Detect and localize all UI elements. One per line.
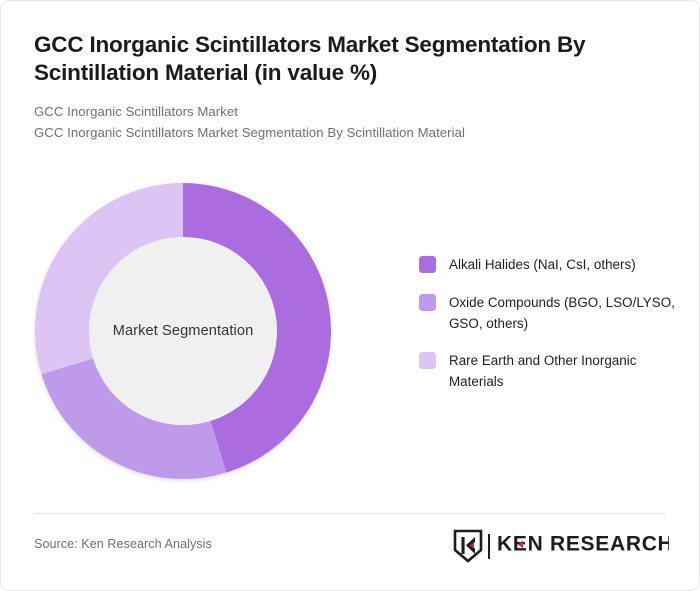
donut-hole xyxy=(89,237,277,425)
legend-label: Rare Earth and Other Inorganic Materials xyxy=(449,351,681,393)
header: GCC Inorganic Scintillators Market Segme… xyxy=(34,31,669,143)
subtitle-group: GCC Inorganic Scintillators Market GCC I… xyxy=(34,102,669,144)
brand-separator xyxy=(488,534,490,559)
subtitle-market: GCC Inorganic Scintillators Market xyxy=(34,102,669,123)
source-note: Source: Ken Research Analysis xyxy=(34,537,212,551)
legend-item[interactable]: Oxide Compounds (BGO, LSO/LYSO, GSO, oth… xyxy=(419,293,681,335)
ken-research-shield-icon xyxy=(453,529,483,563)
legend-swatch-icon xyxy=(419,256,436,273)
legend-label: Alkali Halides (NaI, CsI, others) xyxy=(449,255,636,276)
brand-logo: KEN RESEARCH xyxy=(453,529,669,563)
brand-wordmark: KEN RESEARCH xyxy=(497,532,669,556)
legend-swatch-icon xyxy=(419,352,436,369)
legend-swatch-icon xyxy=(419,294,436,311)
chart-area: Market Segmentation Alkali Halides (NaI,… xyxy=(1,161,700,506)
donut-svg xyxy=(35,183,331,479)
legend-item[interactable]: Alkali Halides (NaI, CsI, others) xyxy=(419,255,681,276)
brand-name: KEN RESEARCH xyxy=(497,532,669,560)
chart-legend: Alkali Halides (NaI, CsI, others)Oxide C… xyxy=(419,255,681,393)
footer: Source: Ken Research Analysis KEN RESEAR… xyxy=(34,529,669,569)
page-title: GCC Inorganic Scintillators Market Segme… xyxy=(34,31,659,88)
footer-divider xyxy=(34,513,666,514)
subtitle-segmentation: GCC Inorganic Scintillators Market Segme… xyxy=(34,123,669,144)
legend-label: Oxide Compounds (BGO, LSO/LYSO, GSO, oth… xyxy=(449,293,681,335)
donut-chart: Market Segmentation xyxy=(35,183,331,479)
legend-item[interactable]: Rare Earth and Other Inorganic Materials xyxy=(419,351,681,393)
chart-page: GCC Inorganic Scintillators Market Segme… xyxy=(0,0,700,591)
